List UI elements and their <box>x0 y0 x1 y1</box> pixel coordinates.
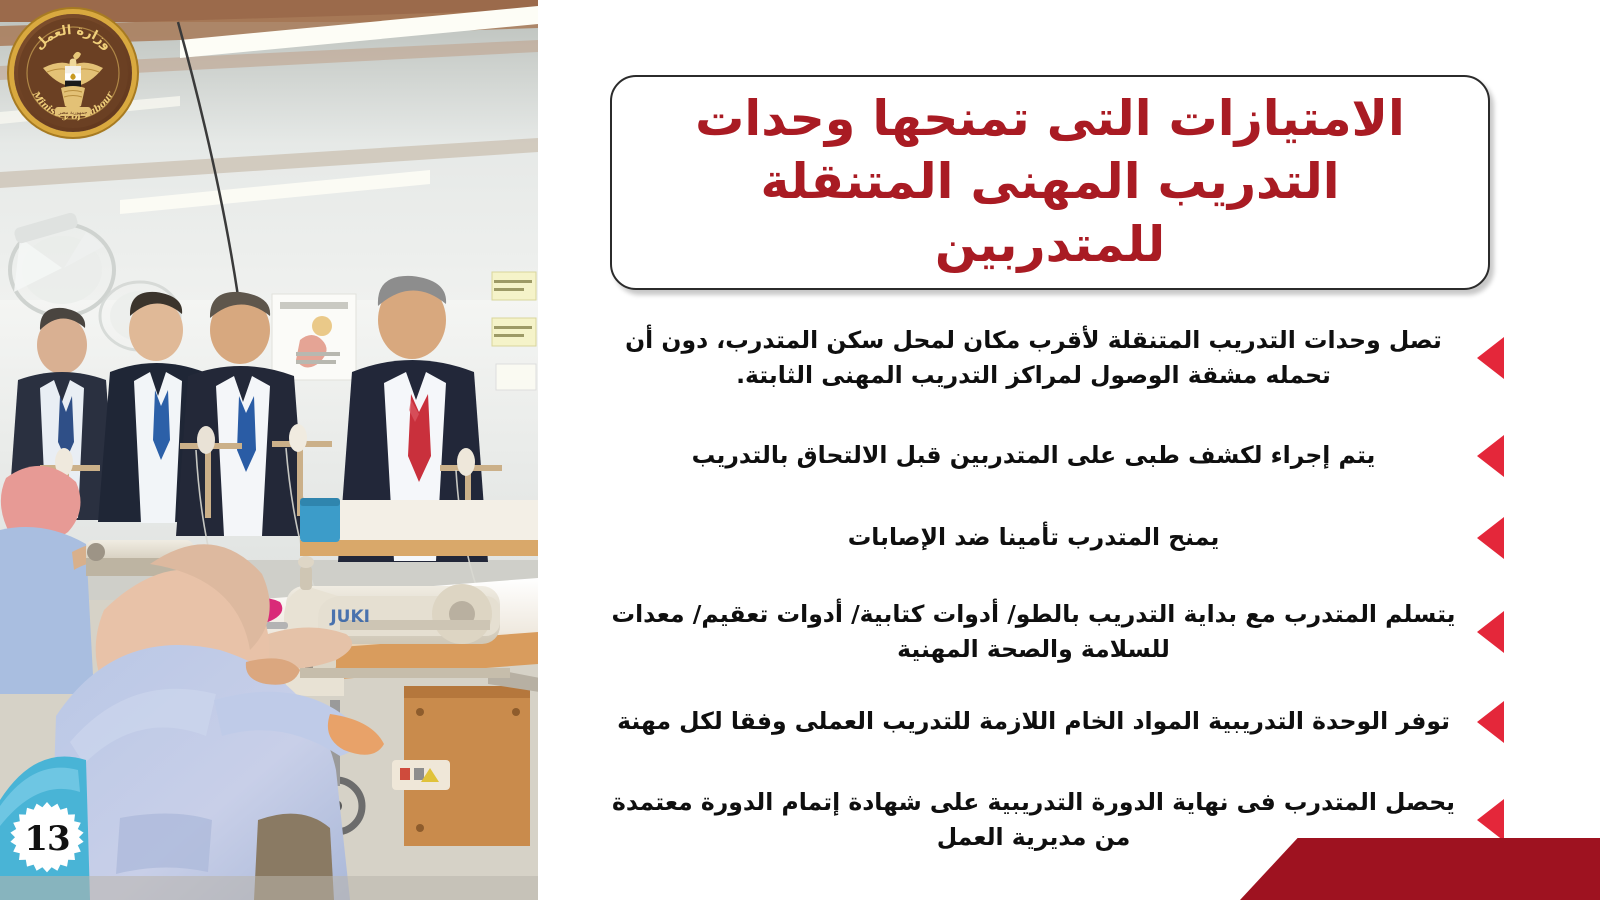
triangle-bullet-icon <box>1477 517 1504 559</box>
list-item-text: تصل وحدات التدريب المتنقلة لأقرب مكان لم… <box>594 323 1463 394</box>
list-item-text: توفر الوحدة التدريبية المواد الخام اللاز… <box>594 704 1463 739</box>
list-item: تصل وحدات التدريب المتنقلة لأقرب مكان لم… <box>594 312 1504 404</box>
triangle-bullet-icon <box>1477 799 1504 841</box>
triangle-bullet-icon <box>1477 337 1504 379</box>
triangle-bullet-icon <box>1477 435 1504 477</box>
workshop-photo-illustration: JUKI <box>0 0 538 900</box>
list-item: يتسلم المتدرب مع بداية التدريب بالطو/ أد… <box>594 586 1504 678</box>
triangle-bullet-icon <box>1477 701 1504 743</box>
benefits-list: تصل وحدات التدريب المتنقلة لأقرب مكان لم… <box>594 312 1504 882</box>
ministry-seal-icon: وزارة العمل Ministry of Labour <box>14 14 132 132</box>
ministry-of-labour-logo: وزارة العمل Ministry of Labour <box>14 14 132 132</box>
list-item-text: يتسلم المتدرب مع بداية التدريب بالطو/ أد… <box>594 597 1463 668</box>
list-item-text: يمنح المتدرب تأمينا ضد الإصابات <box>594 520 1463 555</box>
page-title: الامتيازات التى تمنحها وحدات التدريب الم… <box>638 88 1462 276</box>
list-item: يمنح المتدرب تأمينا ضد الإصابات <box>594 508 1504 568</box>
page-number-badge: 13 <box>8 800 86 878</box>
workshop-photo: JUKI <box>0 0 538 900</box>
page-number: 13 <box>8 800 86 878</box>
title-box: الامتيازات التى تمنحها وحدات التدريب الم… <box>610 75 1490 290</box>
svg-text:JUKI: JUKI <box>329 607 370 627</box>
svg-text:جمهورية مصر: جمهورية مصر <box>58 110 88 116</box>
list-item: توفر الوحدة التدريبية المواد الخام اللاز… <box>594 692 1504 752</box>
slide-root: JUKI <box>0 0 1600 900</box>
list-item-text: يتم إجراء لكشف طبى على المتدربين قبل الا… <box>594 438 1463 473</box>
corner-decoration <box>1240 838 1600 900</box>
list-item: يتم إجراء لكشف طبى على المتدربين قبل الا… <box>594 426 1504 486</box>
triangle-bullet-icon <box>1477 611 1504 653</box>
